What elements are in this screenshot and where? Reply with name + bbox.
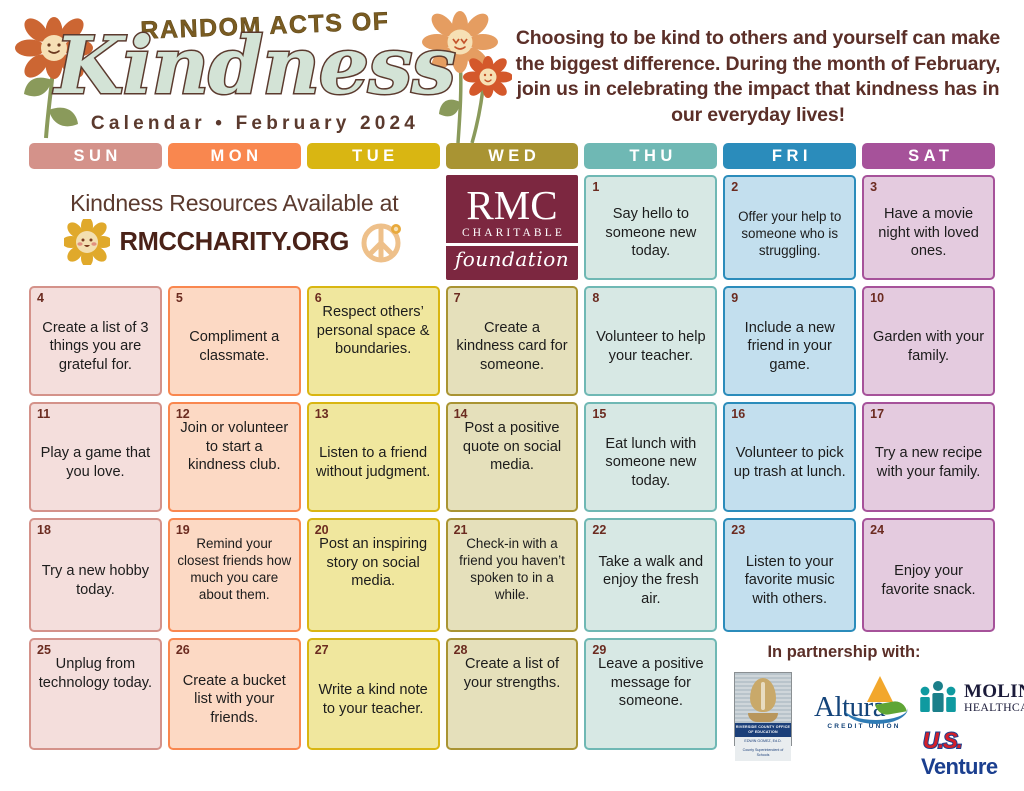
- altura-triangle-icon: [867, 676, 893, 702]
- calendar-day-19[interactable]: 19Remind your closest friends how much y…: [168, 518, 301, 632]
- rcoe-band-text: RIVERSIDE COUNTY OFFICE OF EDUCATION: [735, 723, 791, 737]
- sunflower-icon: [64, 219, 110, 265]
- day-activity-text: Listen to your favorite music with other…: [731, 537, 848, 624]
- day-number: 8: [592, 292, 709, 305]
- day-number: 3: [870, 181, 987, 194]
- calendar-day-20[interactable]: 20Post an inspiring story on social medi…: [307, 518, 440, 632]
- us-venture-logo: U.S.Venture: [923, 728, 1018, 780]
- day-number: 7: [454, 292, 571, 305]
- calendar-day-2[interactable]: 2Offer your help to someone who is strug…: [723, 175, 856, 280]
- rmc-initials: RMC: [466, 184, 557, 226]
- weekday-header-wed: WED: [446, 143, 579, 169]
- calendar-day-11[interactable]: 11Play a game that you love.: [29, 402, 162, 512]
- calendar-day-8[interactable]: 8Volunteer to help your teacher.: [584, 286, 717, 396]
- calendar-day-18[interactable]: 18Try a new hobby today.: [29, 518, 162, 632]
- day-number: 10: [870, 292, 987, 305]
- calendar-day-24[interactable]: 24Enjoy your favorite snack.: [862, 518, 995, 632]
- day-activity-text: Try a new recipe with your family.: [870, 421, 987, 504]
- calendar-day-14[interactable]: 14Post a positive quote on social media.: [446, 402, 579, 512]
- partner-logos: RIVERSIDE COUNTY OFFICE OF EDUCATION EDW…: [718, 670, 1018, 788]
- weekday-header-sun: SUN: [29, 143, 162, 169]
- day-number: 16: [731, 408, 848, 421]
- day-activity-text: Listen to a friend without judgment.: [315, 421, 432, 504]
- day-number: 17: [870, 408, 987, 421]
- day-activity-text: Enjoy your favorite snack.: [870, 537, 987, 624]
- calendar-day-9[interactable]: 9Include a new friend in your game.: [723, 286, 856, 396]
- day-number: 22: [592, 524, 709, 537]
- day-number: 24: [870, 524, 987, 537]
- calendar-day-17[interactable]: 17Try a new recipe with your family.: [862, 402, 995, 512]
- day-activity-text: Compliment a classmate.: [176, 305, 293, 388]
- calendar-day-12[interactable]: 12Join or volunteer to start a kindness …: [168, 402, 301, 512]
- day-activity-text: Play a game that you love.: [37, 421, 154, 504]
- riverside-county-office-of-education-logo: RIVERSIDE COUNTY OFFICE OF EDUCATION EDW…: [734, 672, 792, 746]
- day-number: 27: [315, 644, 432, 657]
- day-activity-text: Volunteer to help your teacher.: [592, 305, 709, 388]
- molina-wordmark: MOLINA: [964, 682, 1024, 701]
- intro-paragraph: Choosing to be kind to others and yourse…: [508, 26, 1008, 128]
- us-venture-us: U.S.: [923, 728, 962, 754]
- day-activity-text: Volunteer to pick up trash at lunch.: [731, 421, 848, 504]
- day-number: 26: [176, 644, 293, 657]
- weekday-header-sat: SAT: [862, 143, 995, 169]
- day-activity-text: Include a new friend in your game.: [731, 305, 848, 388]
- us-venture-venture: Venture: [921, 754, 998, 780]
- day-activity-text: Create a kindness card for someone.: [454, 305, 571, 388]
- day-activity-text: Post an inspiring story on social media.: [315, 535, 432, 624]
- rcoe-emblem: [735, 673, 791, 723]
- molina-tagline: HEALTHCARE: [964, 701, 1024, 714]
- calendar-day-4[interactable]: 4Create a list of 3 things you are grate…: [29, 286, 162, 396]
- altura-credit-union-logo: Altura CREDIT UNION: [814, 692, 914, 748]
- calendar-day-3[interactable]: 3Have a movie night with loved ones.: [862, 175, 995, 280]
- calendar-day-1[interactable]: 1Say hello to someone new today.: [584, 175, 717, 280]
- calendar-day-16[interactable]: 16Volunteer to pick up trash at lunch.: [723, 402, 856, 512]
- weekday-header-fri: FRI: [723, 143, 856, 169]
- day-number: 2: [731, 181, 848, 194]
- day-activity-text: Have a movie night with loved ones.: [870, 194, 987, 272]
- day-activity-text: Leave a positive message for someone.: [592, 655, 709, 742]
- kindness-resources-banner: Kindness Resources Available at: [29, 175, 440, 280]
- rcoe-bowl-icon: [748, 713, 778, 722]
- weekday-header-thu: THU: [584, 143, 717, 169]
- calendar-day-25[interactable]: 25Unplug from technology today.: [29, 638, 162, 750]
- day-number: 15: [592, 408, 709, 421]
- day-number: 23: [731, 524, 848, 537]
- partners-title: In partnership with:: [718, 643, 970, 662]
- rmc-charitable-word: CHARITABLE: [459, 226, 565, 241]
- rmc-foundation-script: foundation: [455, 247, 569, 271]
- day-activity-text: Remind your closest friends how much you…: [176, 535, 293, 624]
- molina-wordmark-block: MOLINA HEALTHCARE: [964, 682, 1024, 714]
- day-activity-text: Join or volunteer to start a kindness cl…: [176, 419, 293, 504]
- rmc-divider: [446, 243, 579, 246]
- day-number: 5: [176, 292, 293, 305]
- day-activity-text: Take a walk and enjoy the fresh air.: [592, 537, 709, 624]
- kindness-calendar-page: RANDOM ACTS OF Kindness Calendar • Febru…: [0, 0, 1024, 791]
- peace-sign-icon: [359, 219, 405, 265]
- calendar-day-10[interactable]: 10Garden with your family.: [862, 286, 995, 396]
- day-number: 1: [592, 181, 709, 194]
- weekday-header-tue: TUE: [307, 143, 440, 169]
- day-activity-text: Write a kind note to your teacher.: [315, 657, 432, 742]
- day-number: 13: [315, 408, 432, 421]
- day-activity-text: Eat lunch with someone new today.: [592, 421, 709, 504]
- calendar-day-15[interactable]: 15Eat lunch with someone new today.: [584, 402, 717, 512]
- resources-line-1: Kindness Resources Available at: [70, 190, 398, 217]
- calendar-day-6[interactable]: 6Respect others’ personal space & bounda…: [307, 286, 440, 396]
- altura-tagline: CREDIT UNION: [814, 723, 914, 730]
- day-activity-text: Check-in with a friend you haven’t spoke…: [454, 535, 571, 624]
- calendar-day-13[interactable]: 13Listen to a friend without judgment.: [307, 402, 440, 512]
- day-activity-text: Post a positive quote on social media.: [454, 419, 571, 504]
- calendar-day-29[interactable]: 29Leave a positive message for someone.: [584, 638, 717, 750]
- calendar-day-5[interactable]: 5Compliment a classmate.: [168, 286, 301, 396]
- day-activity-text: Try a new hobby today.: [37, 537, 154, 624]
- molina-people-icon: [918, 680, 960, 714]
- rcoe-flame-icon: [750, 678, 776, 712]
- day-activity-text: Say hello to someone new today.: [592, 194, 709, 272]
- rcoe-superintendent-title: County Superintendent of Schools: [735, 746, 791, 760]
- partners-section: In partnership with: RIVERSIDE COUNTY OF…: [718, 643, 1018, 788]
- calendar-day-26[interactable]: 26Create a bucket list with your friends…: [168, 638, 301, 750]
- page-title: Kindness: [55, 24, 455, 108]
- calendar-day-28[interactable]: 28Create a list of your strengths.: [446, 638, 579, 750]
- day-activity-text: Respect others’ personal space & boundar…: [315, 303, 432, 388]
- day-number: 4: [37, 292, 154, 305]
- day-number: 9: [731, 292, 848, 305]
- title-block: RANDOM ACTS OF Kindness Calendar • Febru…: [0, 0, 500, 140]
- calendar-day-22[interactable]: 22Take a walk and enjoy the fresh air.: [584, 518, 717, 632]
- day-number: 18: [37, 524, 154, 537]
- weekday-header-row: SUNMONTUEWEDTHUFRISAT: [29, 143, 995, 169]
- calendar-day-21[interactable]: 21Check-in with a friend you haven’t spo…: [446, 518, 579, 632]
- title-subtitle: Calendar • February 2024: [60, 113, 450, 135]
- day-activity-text: Create a list of 3 things you are gratef…: [37, 305, 154, 388]
- calendar-day-7[interactable]: 7Create a kindness card for someone.: [446, 286, 579, 396]
- calendar-day-23[interactable]: 23Listen to your favorite music with oth…: [723, 518, 856, 632]
- day-number: 11: [37, 408, 154, 421]
- weekday-header-mon: MON: [168, 143, 301, 169]
- rcoe-superintendent-name: EDWIN GOMEZ, Ed.D.: [735, 737, 791, 746]
- rmc-charitable-foundation-logo: RMC CHARITABLE foundation: [446, 175, 579, 280]
- day-activity-text: Offer your help to someone who is strugg…: [731, 194, 848, 272]
- day-activity-text: Create a bucket list with your friends.: [176, 657, 293, 742]
- calendar-header: RANDOM ACTS OF Kindness Calendar • Febru…: [0, 0, 1024, 140]
- day-activity-text: Unplug from technology today.: [37, 655, 154, 742]
- resources-url[interactable]: RMCCHARITY.ORG: [120, 228, 350, 257]
- day-activity-text: Create a list of your strengths.: [454, 655, 571, 742]
- calendar-day-27[interactable]: 27Write a kind note to your teacher.: [307, 638, 440, 750]
- day-activity-text: Garden with your family.: [870, 305, 987, 388]
